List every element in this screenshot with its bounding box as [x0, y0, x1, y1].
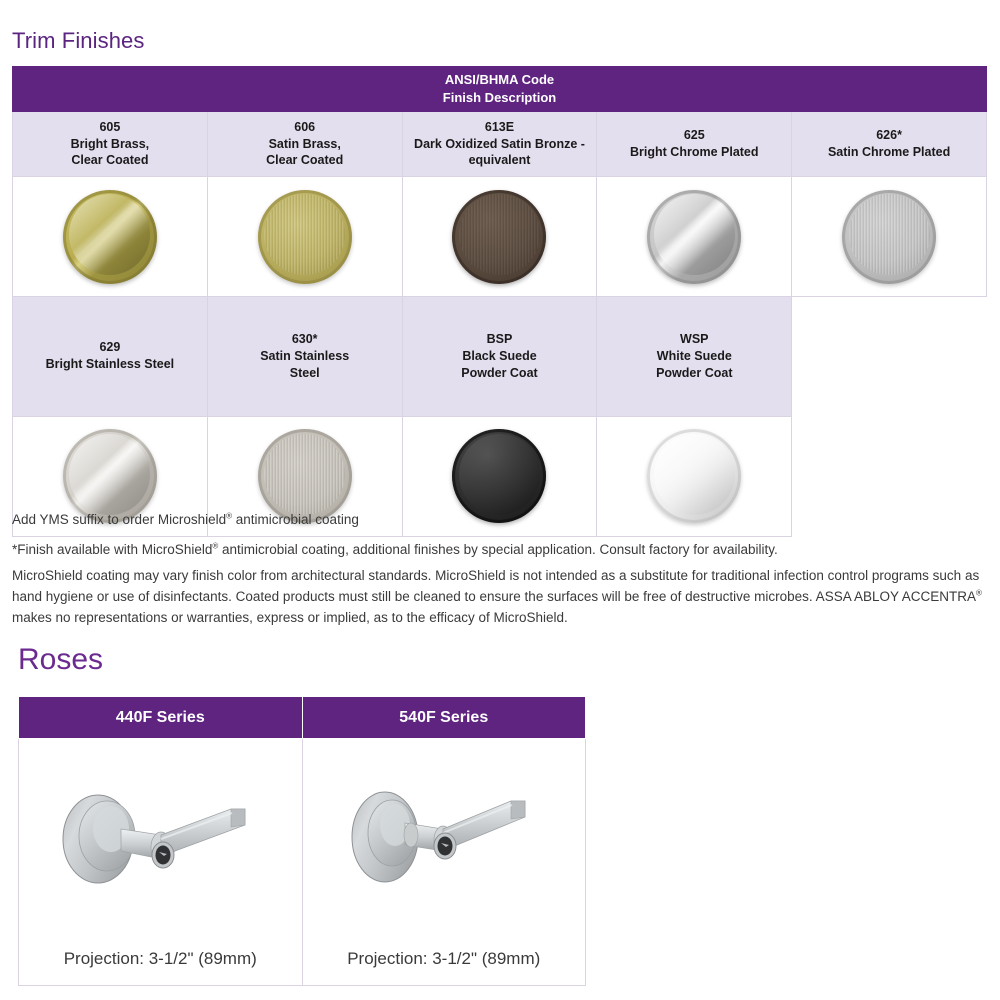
finish-swatch-cell-606 [207, 177, 402, 297]
header-line-2: Finish Description [13, 89, 986, 107]
finish-desc-bsp-line2: Powder Coat [403, 365, 597, 382]
finish-label-606: 606 Satin Brass, Clear Coated [207, 112, 402, 177]
finish-swatch-bsp-disc-icon [452, 429, 546, 523]
finish-label-626: 626* Satin Chrome Plated [792, 112, 987, 177]
finish-label-629: 629 Bright Stainless Steel [13, 297, 208, 417]
finish-swatch-606-disc-icon [258, 190, 352, 284]
finish-swatch-cell-625 [597, 177, 792, 297]
finish-desc-630-line1: Satin Stainless [208, 348, 402, 365]
finish-label-row-1: 605 Bright Brass, Clear Coated 606 Satin… [13, 112, 987, 177]
finish-desc-606-line2: Clear Coated [208, 152, 402, 169]
finish-code-613e: 613E [403, 119, 597, 136]
finish-desc-wsp-line2: Powder Coat [597, 365, 791, 382]
finish-desc-613e-line2: equivalent [403, 152, 597, 169]
finish-swatch-605-disc-icon [63, 190, 157, 284]
finish-code-625: 625 [597, 127, 791, 144]
finish-label-613e: 613E Dark Oxidized Satin Bronze - equiva… [402, 112, 597, 177]
roses-image-row [19, 739, 586, 934]
table-header-ansi-bhma: ANSI/BHMA Code Finish Description [13, 67, 987, 112]
roses-header-540f: 540F Series [302, 697, 586, 739]
finish-code-626: 626* [792, 127, 986, 144]
finish-code-bsp: BSP [403, 331, 597, 348]
roses-header-440f: 440F Series [19, 697, 303, 739]
finish-swatch-cell-wsp [597, 416, 792, 536]
page-title-trim-finishes: Trim Finishes [12, 30, 145, 52]
note-yms-suffix: Add YMS suffix to order Microshield® ant… [12, 510, 359, 530]
note-microshield-disclaimer: MicroShield coating may vary finish colo… [12, 566, 992, 629]
page-title-roses: Roses [18, 645, 103, 675]
finish-label-605: 605 Bright Brass, Clear Coated [13, 112, 208, 177]
finish-swatch-cell-626 [792, 177, 987, 297]
finish-label-empty [792, 297, 987, 417]
roses-table: 440F Series 540F Series [18, 696, 586, 986]
header-line-1: ANSI/BHMA Code [13, 71, 986, 89]
finish-desc-605-line2: Clear Coated [13, 152, 207, 169]
finish-swatch-wsp-disc-icon [647, 429, 741, 523]
finish-swatch-row-1 [13, 177, 987, 297]
finish-swatch-625-disc-icon [647, 190, 741, 284]
finish-desc-630-line2: Steel [208, 365, 402, 382]
finish-swatch-630-disc-icon [258, 429, 352, 523]
finish-desc-613e-line1: Dark Oxidized Satin Bronze - [403, 136, 597, 153]
finish-swatch-cell-605 [13, 177, 208, 297]
note-finish-availability: *Finish available with MicroShield® anti… [12, 540, 778, 560]
finish-label-bsp: BSP Black Suede Powder Coat [402, 297, 597, 417]
finish-swatch-629-disc-icon [63, 429, 157, 523]
roses-caption-row: Projection: 3-1/2" (89mm) Projection: 3-… [19, 933, 586, 986]
finish-desc-wsp-line1: White Suede [597, 348, 791, 365]
finish-swatch-613e-disc-icon [452, 190, 546, 284]
roses-header-row: 440F Series 540F Series [19, 697, 586, 739]
finish-code-606: 606 [208, 119, 402, 136]
roses-caption-440f: Projection: 3-1/2" (89mm) [19, 933, 303, 986]
table-header-row: ANSI/BHMA Code Finish Description [13, 67, 987, 112]
finish-code-629: 629 [13, 339, 207, 356]
finish-label-wsp: WSP White Suede Powder Coat [597, 297, 792, 417]
finish-desc-625-line1: Bright Chrome Plated [597, 144, 791, 161]
trim-finishes-table: ANSI/BHMA Code Finish Description 605 Br… [12, 66, 987, 537]
roses-caption-540f: Projection: 3-1/2" (89mm) [302, 933, 586, 986]
finish-swatch-cell-empty [792, 416, 987, 536]
finish-code-605: 605 [13, 119, 207, 136]
finish-desc-bsp-line1: Black Suede [403, 348, 597, 365]
lever-trim-540f-icon [319, 751, 569, 921]
finish-swatch-cell-613e [402, 177, 597, 297]
finish-desc-605-line1: Bright Brass, [13, 136, 207, 153]
finish-desc-606-line1: Satin Brass, [208, 136, 402, 153]
finish-swatch-626-disc-icon [842, 190, 936, 284]
finish-label-625: 625 Bright Chrome Plated [597, 112, 792, 177]
finish-code-wsp: WSP [597, 331, 791, 348]
roses-image-cell-440f [19, 739, 303, 934]
finish-label-630: 630* Satin Stainless Steel [207, 297, 402, 417]
finish-code-630: 630* [208, 331, 402, 348]
finish-desc-626-line1: Satin Chrome Plated [792, 144, 986, 161]
finish-swatch-cell-bsp [402, 416, 597, 536]
lever-trim-440f-icon [35, 751, 285, 921]
roses-image-cell-540f [302, 739, 586, 934]
finish-label-row-2: 629 Bright Stainless Steel 630* Satin St… [13, 297, 987, 417]
finish-desc-629-line1: Bright Stainless Steel [13, 356, 207, 373]
